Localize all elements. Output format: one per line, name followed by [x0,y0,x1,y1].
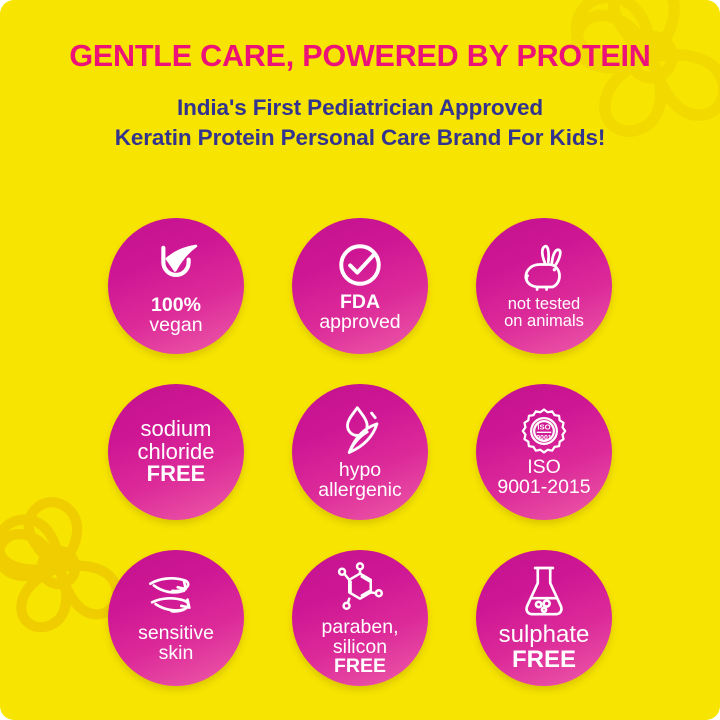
page-subtitle: India's First Pediatrician Approved Kera… [0,93,720,153]
badge-label-line: ISO [497,458,590,478]
hands-leaf-icon [145,573,207,621]
badge-label: FDAapproved [315,293,404,333]
badge-label-line: chloride [137,441,214,463]
badge-label-line: 9001-2015 [497,478,590,498]
badge-label: sensitiveskin [134,624,218,664]
iso-seal-icon: ISO 9001 [520,407,568,455]
check-circle-icon [335,240,385,290]
badge-not-tested-on-animals: not testedon animals [476,218,612,354]
droplet-leaf-icon [335,404,385,458]
badge-fda-approved: FDAapproved [292,218,428,354]
svg-text:ISO: ISO [537,422,550,431]
svg-text:9001: 9001 [536,434,551,441]
flask-icon [520,564,568,620]
badge-label: sulphateFREE [495,623,594,672]
badge-label-line: sulphate [499,623,590,647]
badge-label: ISO9001-2015 [493,458,594,498]
badge-label-line: sensitive [138,624,214,644]
subtitle-line-1: India's First Pediatrician Approved [0,93,720,123]
promo-infographic: GENTLE CARE, POWERED BY PROTEIN India's … [0,0,720,720]
rabbit-icon [518,243,570,293]
badge-grid: 100%vegan FDAapproved not testedon anima… [93,203,627,701]
badge-label-line: FREE [322,657,399,677]
badge-iso-9001-2015: ISO 9001 ISO9001-2015 [476,384,612,520]
badge-label-line: sodium [137,418,214,440]
badge-label-line: FDA [319,293,400,313]
badge-label-line: on animals [504,313,584,330]
badge-label-line: skin [138,644,214,664]
leaf-check-icon [147,237,205,293]
badge-vegan: 100%vegan [108,218,244,354]
copyright-notice: © 2025 Viacom International Inc. [0,575,2,712]
badge-label-line: allergenic [318,481,401,501]
badge-sulphate-free: sulphateFREE [476,550,612,686]
badge-label: paraben,siliconFREE [318,618,403,678]
badge-label-line: FREE [499,648,590,672]
badge-label-line: 100% [149,296,202,316]
molecule-icon [334,559,386,615]
badge-hypo-allergenic: hypoallergenic [292,384,428,520]
badge-label-line: vegan [149,316,202,336]
badge-label-line: FREE [137,463,214,485]
badge-label-line: hypo [318,461,401,481]
badge-sensitive-skin: sensitiveskin [108,550,244,686]
badge-sodium-chloride-free: sodiumchlorideFREE [108,384,244,520]
badge-label: sodiumchlorideFREE [133,418,218,485]
badge-label-line: not tested [504,296,584,313]
page-title: GENTLE CARE, POWERED BY PROTEIN [0,40,720,72]
header-block: GENTLE CARE, POWERED BY PROTEIN India's … [0,40,720,153]
badge-paraben-silicon-free: paraben,siliconFREE [292,550,428,686]
subtitle-line-2: Keratin Protein Personal Care Brand For … [0,123,720,153]
badge-label: hypoallergenic [314,461,405,501]
badge-label-line: paraben, [322,618,399,638]
badge-label: not testedon animals [500,296,588,330]
badge-label-line: approved [319,313,400,333]
badge-label: 100%vegan [145,296,206,336]
